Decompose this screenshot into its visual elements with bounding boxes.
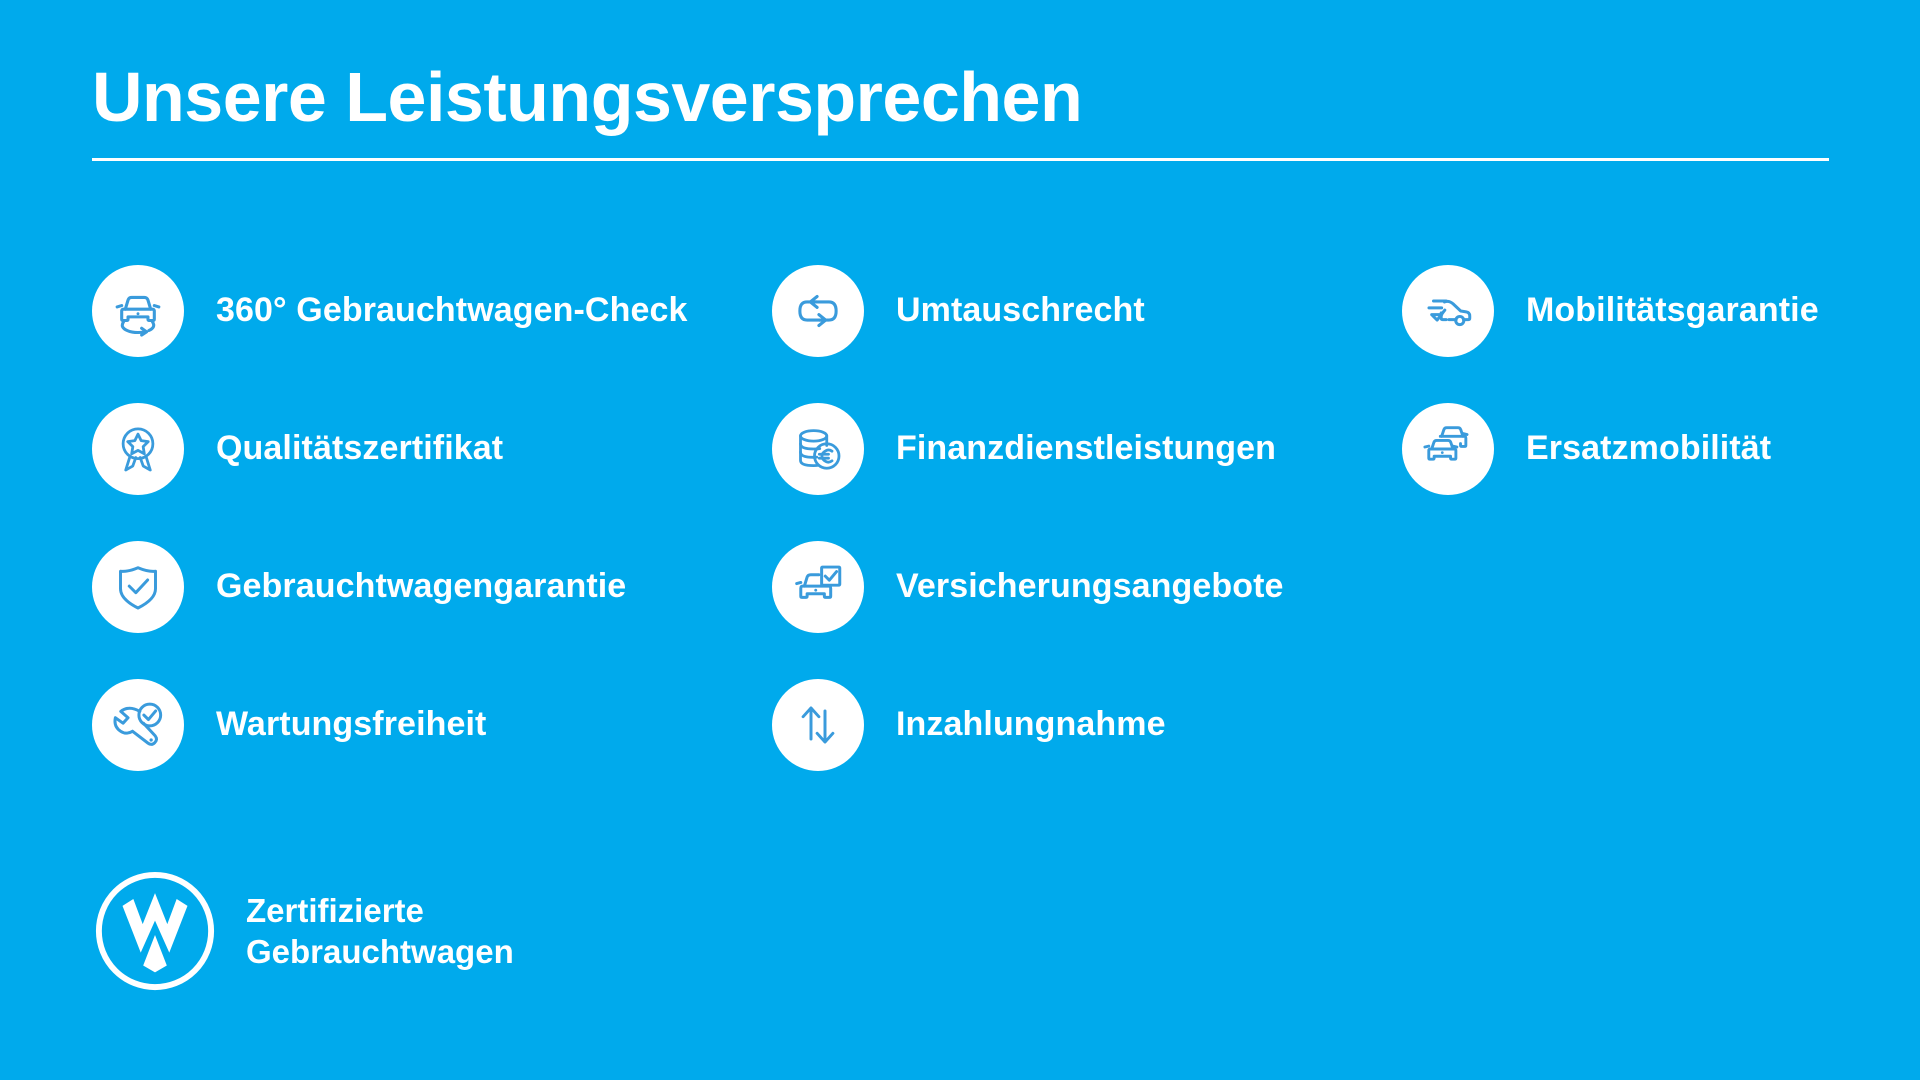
feature-label: Wartungsfreiheit (216, 706, 486, 743)
feature-label: Umtauschrecht (896, 292, 1145, 329)
feature-column-1: 360° Gebrauchtwagen-Check Qualitätszerti… (92, 265, 732, 817)
two-cars-icon (1402, 403, 1494, 495)
volkswagen-logo-icon (92, 868, 218, 994)
feature-item[interactable]: Wartungsfreiheit (92, 679, 732, 771)
feature-item[interactable]: Mobilitätsgarantie (1402, 265, 1882, 357)
feature-item[interactable]: 360° Gebrauchtwagen-Check (92, 265, 732, 357)
feature-grid: 360° Gebrauchtwagen-Check Qualitätszerti… (92, 265, 1852, 765)
feature-label: Qualitätszertifikat (216, 430, 503, 467)
feature-column-2: Umtauschrecht Finanz (772, 265, 1392, 817)
feature-item[interactable]: Gebrauchtwagengarantie (92, 541, 732, 633)
feature-item[interactable]: Qualitätszertifikat (92, 403, 732, 495)
feature-label: Mobilitätsgarantie (1526, 292, 1819, 329)
award-rosette-star-icon (92, 403, 184, 495)
feature-item[interactable]: Inzahlungnahme (772, 679, 1392, 771)
title-divider (92, 158, 1829, 161)
promo-slide: Unsere Leistungsversprechen (0, 0, 1920, 1080)
feature-column-3: Mobilitätsgarantie Ersatzmobilitä (1402, 265, 1882, 541)
wrench-check-icon (92, 679, 184, 771)
arrows-up-down-icon (772, 679, 864, 771)
car-speed-check-icon (1402, 265, 1494, 357)
coins-euro-icon (772, 403, 864, 495)
exchange-arrows-loop-icon (772, 265, 864, 357)
feature-item[interactable]: Ersatzmobilität (1402, 403, 1882, 495)
feature-label: Finanzdienstleistungen (896, 430, 1276, 467)
car-360-rotation-icon (92, 265, 184, 357)
feature-label: Inzahlungnahme (896, 706, 1166, 743)
feature-item[interactable]: Umtauschrecht (772, 265, 1392, 357)
feature-label: Ersatzmobilität (1526, 430, 1771, 467)
feature-label: 360° Gebrauchtwagen-Check (216, 292, 687, 329)
header: Unsere Leistungsversprechen (92, 62, 1829, 161)
feature-item[interactable]: Versicherungsangebote (772, 541, 1392, 633)
feature-item[interactable]: Finanzdienstleistungen (772, 403, 1392, 495)
brand-footer: Zertifizierte Gebrauchtwagen (92, 868, 514, 994)
page-title: Unsere Leistungsversprechen (92, 62, 1829, 132)
feature-label: Gebrauchtwagengarantie (216, 568, 626, 605)
feature-label: Versicherungsangebote (896, 568, 1284, 605)
shield-check-icon (92, 541, 184, 633)
car-checkbox-icon (772, 541, 864, 633)
brand-text: Zertifizierte Gebrauchtwagen (246, 890, 514, 973)
